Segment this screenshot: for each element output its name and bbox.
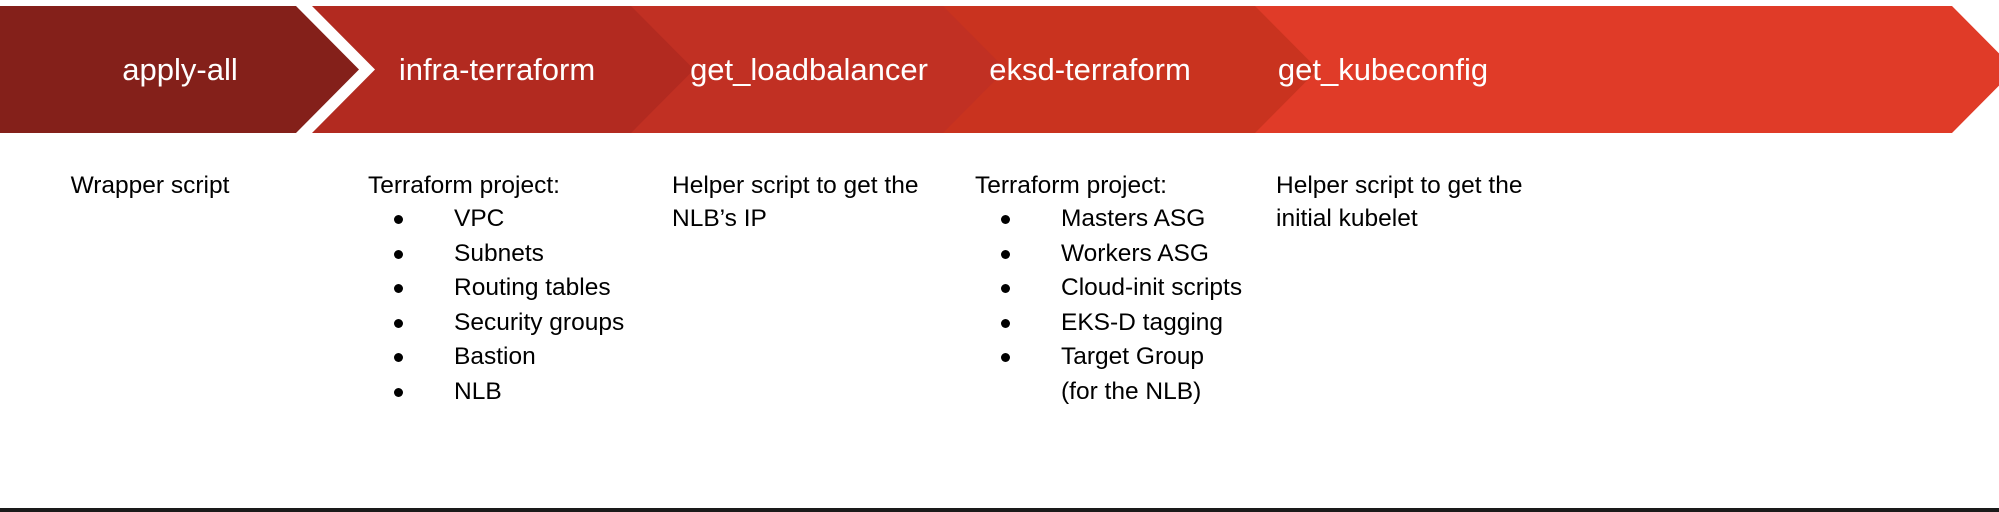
bullet-dot-icon	[394, 250, 403, 259]
stage-description-columns: Wrapper script Terraform project: VPCSub…	[0, 133, 1999, 507]
stage-description-bullet-label: EKS-D tagging	[1061, 309, 1223, 336]
bullet-dot-icon	[394, 388, 403, 397]
bottom-rule	[0, 508, 1999, 512]
stage-description-bullet-label: Security groups	[454, 309, 624, 336]
stage-description-bullet-label: NLB	[454, 378, 502, 405]
chevron-label-infra-terraform: infra-terraform	[399, 52, 595, 87]
stage-description-bullet-item: NLB	[368, 375, 648, 410]
bullet-dot-icon	[1001, 215, 1010, 224]
stage-description-infra-terraform: Terraform project: VPCSubnetsRouting tab…	[368, 169, 648, 409]
bullet-dot-icon	[1001, 284, 1010, 293]
stage-description-bullet-item: Cloud-init scripts	[975, 271, 1275, 306]
stage-description-bullet-label: Cloud-init scripts	[1061, 274, 1242, 301]
bullet-dot-icon	[1001, 319, 1010, 328]
chevron-label-get_loadbalancer: get_loadbalancer	[690, 52, 928, 87]
stage-description-bullet-label: VPC	[454, 205, 504, 232]
chevron-process-band: apply-all infra-terraform get_loadbalanc…	[0, 6, 1999, 133]
stage-description-bullet-label: Workers ASG	[1061, 240, 1209, 267]
stage-description-bullet-item: VPC	[368, 202, 648, 237]
stage-description-title: Helper script to get the NLB’s IP	[672, 169, 952, 235]
bullet-dot-icon	[1001, 250, 1010, 259]
stage-description-bullet-item: Workers ASG	[975, 237, 1275, 272]
stage-description-bullet-item: Subnets	[368, 237, 648, 272]
stage-description-bullet-item: EKS-D tagging	[975, 306, 1275, 341]
stage-description-bullet-item: Routing tables	[368, 271, 648, 306]
stage-description-bullet-label: Subnets	[454, 240, 544, 267]
stage-description-eksd-terraform: Terraform project: Masters ASGWorkers AS…	[975, 169, 1275, 409]
stage-description-bullet-label: Masters ASG	[1061, 205, 1205, 232]
bullet-dot-icon	[394, 284, 403, 293]
stage-description-bullets: VPCSubnetsRouting tablesSecurity groupsB…	[368, 202, 648, 409]
chevron-label-eksd-terraform: eksd-terraform	[989, 52, 1191, 87]
bullet-dot-icon	[1001, 353, 1010, 362]
stage-description-title: Terraform project:	[368, 169, 648, 202]
bullet-dot-icon	[394, 215, 403, 224]
stage-description-bullets: Masters ASGWorkers ASGCloud-init scripts…	[975, 202, 1275, 409]
chevron-label-apply-all: apply-all	[122, 52, 237, 87]
stage-description-bullet-item: Security groups	[368, 306, 648, 341]
stage-description-bullet-item: Masters ASG	[975, 202, 1275, 237]
stage-description-title: Wrapper script	[30, 169, 270, 202]
stage-description-bullet-item: Bastion	[368, 340, 648, 375]
bullet-dot-icon	[394, 319, 403, 328]
chevron-label-get_kubeconfig: get_kubeconfig	[1278, 52, 1488, 87]
bullet-dot-icon	[394, 353, 403, 362]
stage-description-get_kubeconfig: Helper script to get the initial kubelet	[1276, 169, 1576, 235]
stage-description-bullet-label: Routing tables	[454, 274, 611, 301]
stage-description-bullet-label: Bastion	[454, 343, 536, 370]
slide-canvas: apply-all infra-terraform get_loadbalanc…	[0, 0, 1999, 512]
stage-description-title: Helper script to get the initial kubelet	[1276, 169, 1576, 235]
stage-description-apply-all: Wrapper script	[30, 169, 270, 202]
stage-description-bullet-label: Target Group (for the NLB)	[1061, 343, 1204, 405]
stage-description-title: Terraform project:	[975, 169, 1275, 202]
stage-description-get_loadbalancer: Helper script to get the NLB’s IP	[672, 169, 952, 235]
top-margin-rule	[0, 0, 1999, 5]
stage-description-bullet-item: Target Group (for the NLB)	[975, 340, 1275, 409]
